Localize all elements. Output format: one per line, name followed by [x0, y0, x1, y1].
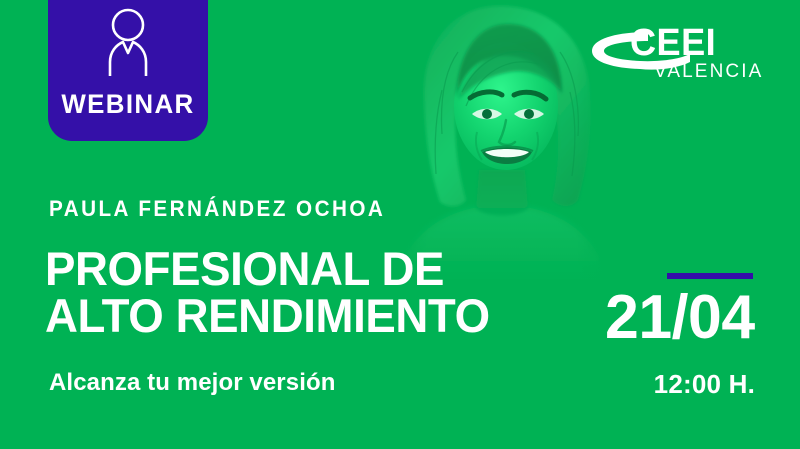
webinar-badge-label: WEBINAR [51, 91, 205, 118]
person-icon [106, 8, 150, 76]
ceei-valencia-logo: CEEI VALENCIA [588, 24, 756, 82]
event-date: 21/04 [605, 287, 755, 349]
webinar-title: PROFESIONAL DE ALTO RENDIMIENTO [45, 246, 490, 339]
webinar-poster: WEBINAR CEEI VALENCIA PAULA FERNÁNDEZ OC… [0, 0, 800, 449]
logo-valencia-text: VALENCIA [654, 62, 763, 81]
speaker-name: PAULA FERNÁNDEZ OCHOA [49, 198, 385, 220]
webinar-tagline: Alcanza tu mejor versión [49, 371, 336, 395]
webinar-badge: WEBINAR [48, 0, 208, 141]
event-time: 12:00 H. [654, 371, 755, 397]
logo-ceei-text: CEEI [630, 24, 716, 62]
date-accent-rule [667, 273, 753, 279]
